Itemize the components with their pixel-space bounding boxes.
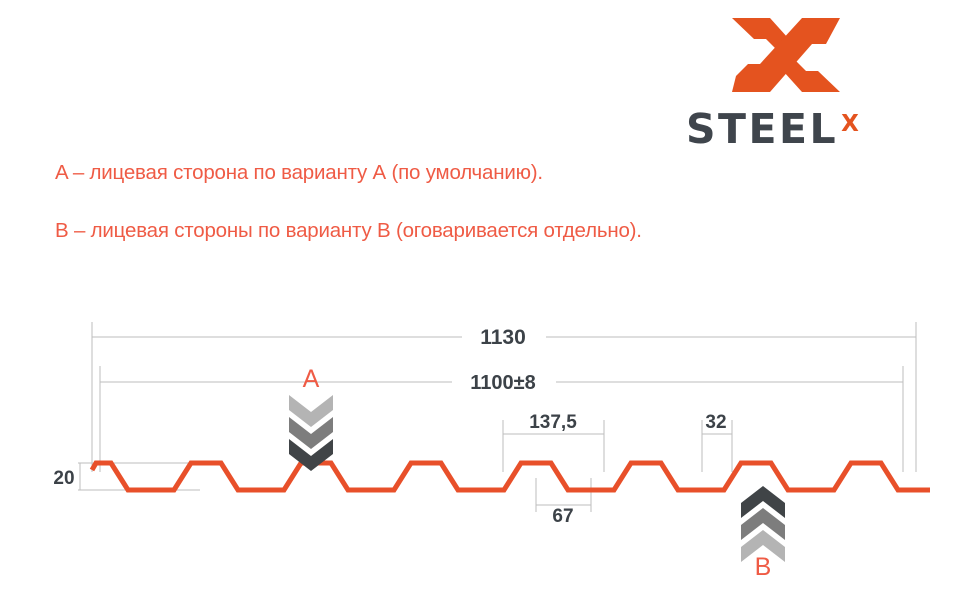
dim-text-67: 67: [552, 506, 573, 527]
side-a-chevrons: [289, 395, 333, 471]
profile-drawing: 1130 1100±8 137,5 32 67 20 A: [0, 300, 970, 590]
brand-wordmark: STEELX: [686, 106, 900, 150]
dim-text-1130: 1130: [480, 326, 526, 349]
brand-name: STEEL: [686, 109, 838, 150]
dim-text-1100: 1100±8: [470, 372, 536, 394]
brand-logo: STEELX: [686, 14, 900, 146]
note-variant-b: B – лицевая стороны по варианту B (огова…: [55, 219, 642, 243]
brand-superscript: X: [841, 113, 859, 136]
side-a-label: A: [303, 365, 320, 393]
side-a-marker: A: [289, 365, 333, 471]
side-b-chevrons: [741, 486, 785, 562]
side-b-label: B: [755, 553, 772, 581]
dim-text-1375: 137,5: [529, 412, 577, 433]
drawing-page: STEELX A – лицевая сторона по варианту А…: [0, 0, 970, 597]
dim-text-32: 32: [705, 412, 726, 433]
dim-text-20: 20: [53, 468, 74, 489]
side-b-marker: B: [741, 486, 785, 581]
note-variant-a: A – лицевая сторона по варианту А (по ум…: [55, 161, 543, 185]
steelx-logo-mark-icon: [730, 14, 842, 96]
corrugated-profile-line: [92, 463, 930, 490]
